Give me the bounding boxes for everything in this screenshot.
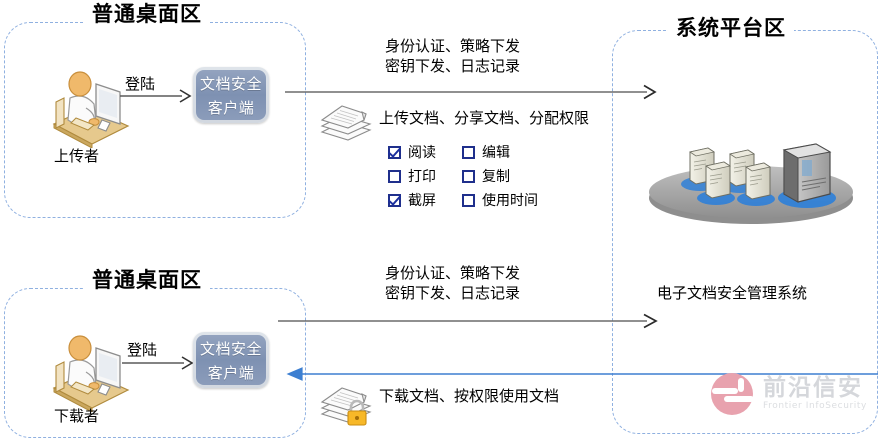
frontier-logo-icon xyxy=(710,372,754,416)
client-chip-line2: 客户端 xyxy=(196,96,266,120)
person-at-desk-icon-lower xyxy=(44,322,132,412)
checkbox-screenshot-icon[interactable] xyxy=(388,194,401,207)
permission-label-screenshot: 截屏 xyxy=(408,190,436,210)
permission-label-print: 打印 xyxy=(408,166,436,186)
checkbox-usage-time-icon[interactable] xyxy=(462,194,475,207)
doc-flow-label-lower: 下载文档、按权限使用文档 xyxy=(379,386,559,406)
flow-text-auth-upper: 身份认证、策略下发 密钥下发、日志记录 xyxy=(385,36,520,77)
permission-label-read: 阅读 xyxy=(408,142,436,162)
actor-label-uploader: 上传者 xyxy=(54,146,99,166)
flow-text-auth-lower-line2: 密钥下发、日志记录 xyxy=(385,283,520,303)
flow-text-auth-lower: 身份认证、策略下发 密钥下发、日志记录 xyxy=(385,263,520,304)
permission-item-edit[interactable]: 编辑 xyxy=(462,142,538,162)
flow-text-auth-upper-line1: 身份认证、策略下发 xyxy=(385,36,520,56)
platform-system-name: 电子文档安全管理系统 xyxy=(657,283,807,303)
permission-label-copy: 复制 xyxy=(482,166,510,186)
server-cluster-icon xyxy=(644,136,858,228)
zone-title-desktop-upper: 普通桌面区 xyxy=(84,4,210,25)
checkbox-print-icon[interactable] xyxy=(388,170,401,183)
zone-title-platform: 系统平台区 xyxy=(668,18,794,39)
locked-document-stack-icon xyxy=(318,378,380,434)
flow-text-auth-upper-line2: 密钥下发、日志记录 xyxy=(385,56,520,76)
client-chip-lower-line1: 文档安全 xyxy=(196,337,266,361)
permission-item-read[interactable]: 阅读 xyxy=(388,142,436,162)
person-at-desk-icon-upper xyxy=(44,58,132,148)
auth-arrow-lower xyxy=(278,313,658,329)
checkbox-copy-icon[interactable] xyxy=(462,170,475,183)
permission-item-copy[interactable]: 复制 xyxy=(462,166,538,186)
client-chip-upper[interactable]: 文档安全 客户端 xyxy=(193,67,269,123)
client-chip-lower[interactable]: 文档安全 客户端 xyxy=(193,332,269,388)
document-stack-icon-upper xyxy=(318,98,376,142)
login-arrow-upper xyxy=(120,88,192,104)
doc-flow-label-upper: 上传文档、分享文档、分配权限 xyxy=(379,108,589,128)
zone-title-desktop-lower: 普通桌面区 xyxy=(84,270,210,291)
permission-item-print[interactable]: 打印 xyxy=(388,166,436,186)
login-arrow-lower xyxy=(122,355,194,371)
checkbox-read-icon[interactable] xyxy=(388,146,401,159)
permission-label-edit: 编辑 xyxy=(482,142,510,162)
brand-logo: 前沿信安 Frontier InfoSecurity xyxy=(710,372,867,416)
flow-text-auth-lower-line1: 身份认证、策略下发 xyxy=(385,263,520,283)
client-chip-line1: 文档安全 xyxy=(196,72,266,96)
brand-name-cn: 前沿信安 xyxy=(763,376,867,400)
checkbox-edit-icon[interactable] xyxy=(462,146,475,159)
diagram-canvas: 普通桌面区 普通桌面区 系统平台区 上传者 登陆 xyxy=(0,0,882,444)
client-chip-lower-line2: 客户端 xyxy=(196,361,266,385)
actor-label-downloader: 下载者 xyxy=(54,406,99,426)
brand-name-en: Frontier InfoSecurity xyxy=(763,401,867,412)
permission-item-usage-time[interactable]: 使用时间 xyxy=(462,190,538,210)
permission-label-usage-time: 使用时间 xyxy=(482,190,538,210)
permission-item-screenshot[interactable]: 截屏 xyxy=(388,190,436,210)
permission-checkbox-grid: 阅读 编辑 打印 复制 截屏 使用时间 xyxy=(388,142,538,210)
